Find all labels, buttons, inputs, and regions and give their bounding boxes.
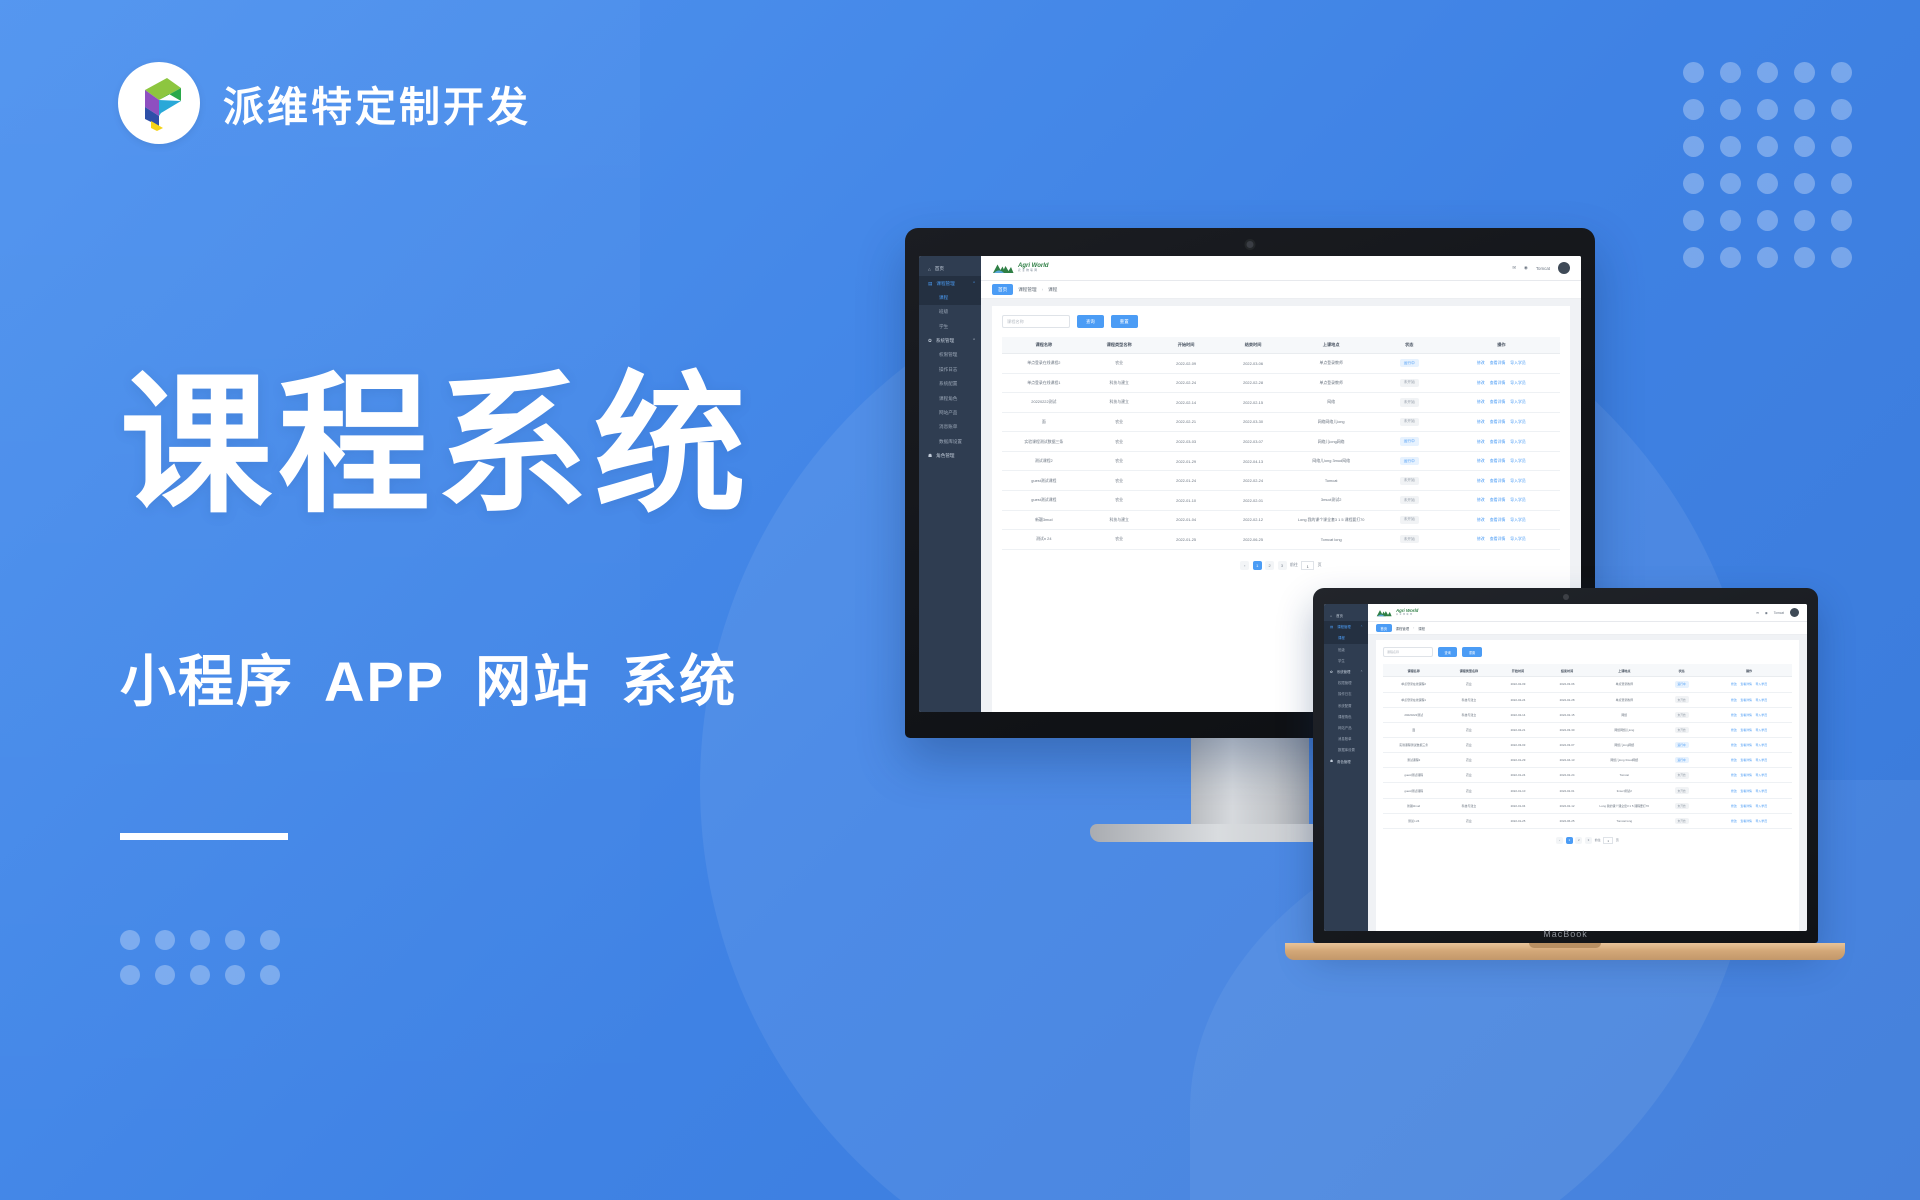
sidebar-item-4[interactable]: 学生 (919, 320, 981, 334)
sidebar-item-label: 首页 (935, 266, 944, 272)
action-link[interactable]: 导入学员 (1510, 517, 1526, 523)
agri-world-mark-icon (1376, 608, 1392, 618)
sidebar-item-label: 课程管理 (936, 281, 954, 287)
sidebar-item-label: 角色管理 (1337, 759, 1351, 764)
table-row: 测试课程2农业2022-01-292022-04-13网络儿long 3mud网… (1383, 753, 1792, 768)
app-sidebar: ⌂首页▤课程管理⌃课程班级学生✿系统管理⌃权限管理操作日志系统配置课程角色网站产… (1324, 604, 1368, 931)
action-link[interactable]: 导入学员 (1756, 804, 1768, 808)
cell-start-time: 2022-03-03 (1153, 432, 1220, 452)
status-badge: 运行中 (1675, 757, 1689, 763)
pivot-ribbon-logo-icon (118, 62, 200, 144)
sidebar-item-label: 消息账单 (939, 424, 957, 430)
cell-location: Tomcat (1592, 768, 1657, 783)
laptop-base (1285, 943, 1845, 960)
cell-start-time: 2022-01-29 (1153, 451, 1220, 471)
cell-start-time: 2022-02-21 (1493, 722, 1542, 737)
chevron-left-icon[interactable]: ‹ (1556, 837, 1563, 844)
sidebar-item-10[interactable]: 网站产品 (919, 406, 981, 420)
action-link[interactable]: 修改 (1477, 458, 1485, 464)
action-link[interactable]: 查看详情 (1740, 758, 1752, 762)
laptop-lid: ⌂首页▤课程管理⌃课程班级学生✿系统管理⌃权限管理操作日志系统配置课程角色网站产… (1313, 588, 1818, 943)
decorative-dot (1794, 210, 1815, 231)
cell-actions: 修改查看详情导入学员 (1706, 722, 1792, 737)
sidebar-item-label: 课程角色 (939, 396, 957, 402)
sidebar-item-11[interactable]: 消息账单 (919, 420, 981, 434)
cell-end-time: 2022-02-24 (1220, 471, 1287, 491)
cell-location: 3muct测试2 (1592, 783, 1657, 798)
decorative-dot (225, 965, 245, 985)
action-link[interactable]: 查看详情 (1740, 682, 1752, 686)
cell-end-time: 2022-06-25 (1543, 813, 1592, 828)
cell-start-time: 2022-01-04 (1493, 798, 1542, 813)
page-button-3[interactable]: 3 (1278, 561, 1287, 570)
action-link[interactable]: 导入学员 (1756, 682, 1768, 686)
page-button-1[interactable]: 1 (1253, 561, 1262, 570)
decorative-dot (260, 965, 280, 985)
laptop-mockup: ⌂首页▤课程管理⌃课程班级学生✿系统管理⌃权限管理操作日志系统配置课程角色网站产… (1285, 588, 1845, 960)
sidebar-item-9[interactable]: 课程角色 (919, 391, 981, 405)
status-badge: 未开始 (1675, 772, 1689, 778)
table-column-header: 课程名称 (1383, 664, 1444, 677)
reset-button[interactable]: 重置 (1462, 647, 1481, 657)
dot-grid-top-right (1683, 62, 1868, 284)
action-link[interactable]: 查看详情 (1490, 399, 1506, 405)
goto-label: 前往 (1595, 838, 1601, 842)
laptop-notch (1529, 943, 1601, 948)
bell-icon[interactable]: ◉ (1524, 265, 1528, 271)
cell-course-type: 科技与建立 (1086, 510, 1153, 530)
table-row: 单点登录在线课程1科技与建立2022-02-242022-02-28单点登录教师… (1002, 373, 1560, 393)
cell-status: 未开始 (1376, 471, 1443, 491)
sidebar-item-label: 课程 (1338, 635, 1345, 640)
action-link[interactable]: 查看详情 (1490, 497, 1506, 503)
sidebar-item-12[interactable]: 数据库设置 (1324, 744, 1368, 755)
brand-name: 派维特定制开发 (223, 73, 531, 133)
action-link[interactable]: 修改 (1731, 713, 1737, 717)
cell-location: 网络 (1592, 707, 1657, 722)
cell-course-type: 农业 (1086, 354, 1153, 374)
breadcrumb-parent[interactable]: 课程管理 (1018, 287, 1036, 293)
status-badge: 未开始 (1400, 418, 1419, 426)
cell-course-type: 科技与建立 (1086, 393, 1153, 413)
cell-actions: 修改查看详情导入学员 (1443, 412, 1560, 432)
sidebar-item-4[interactable]: 学生 (1324, 655, 1368, 666)
action-link[interactable]: 修改 (1731, 804, 1737, 808)
sidebar-item-9[interactable]: 课程角色 (1324, 711, 1368, 722)
decorative-dot (1831, 99, 1852, 120)
cell-actions: 修改查看详情导入学员 (1443, 471, 1560, 491)
cell-start-time: 2022-02-21 (1153, 412, 1220, 432)
cell-actions: 修改查看详情导入学员 (1706, 707, 1792, 722)
cell-start-time: 2022-02-09 (1153, 354, 1220, 374)
cell-course-name: 新疆3mud (1002, 510, 1086, 530)
chevron-left-icon[interactable]: ‹ (1240, 561, 1249, 570)
action-link[interactable]: 修改 (1731, 698, 1737, 702)
mail-icon[interactable]: ✉ (1756, 611, 1759, 615)
sidebar-item-label: 课程管理 (1337, 624, 1351, 629)
page-button-3[interactable]: 3 (1585, 837, 1592, 844)
cell-location: Tomcat (1287, 471, 1376, 491)
cell-course-name: 实验课程测试数据三条 (1002, 432, 1086, 452)
app-logo-text: Agri World 农业物联网 (1396, 609, 1418, 616)
cell-location: Tomcat long (1592, 813, 1657, 828)
sidebar-item-5[interactable]: ✿系统管理⌃ (919, 334, 981, 348)
breadcrumb-separator: › (1042, 287, 1044, 292)
table-column-header: 状态 (1657, 664, 1706, 677)
action-link[interactable]: 查看详情 (1740, 773, 1752, 777)
action-link[interactable]: 修改 (1477, 536, 1485, 542)
action-link[interactable]: 导入学员 (1510, 380, 1526, 386)
action-link[interactable]: 修改 (1731, 819, 1737, 823)
bell-icon[interactable]: ◉ (1765, 611, 1768, 615)
sidebar-item-label: 系统配置 (1338, 703, 1352, 708)
action-link[interactable]: 导入学员 (1510, 536, 1526, 542)
action-link[interactable]: 查看详情 (1490, 458, 1506, 464)
home-icon: ⌂ (1330, 614, 1332, 618)
cell-actions: 修改查看详情导入学员 (1706, 798, 1792, 813)
decorative-dot (190, 965, 210, 985)
action-link[interactable]: 查看详情 (1490, 478, 1506, 484)
cell-course-name: guest测试课程 (1383, 768, 1444, 783)
cell-end-time: 2022-03-30 (1220, 412, 1287, 432)
sidebar-item-8[interactable]: 系统配置 (919, 377, 981, 391)
decorative-dot (225, 930, 245, 950)
sidebar-item-8[interactable]: 系统配置 (1324, 700, 1368, 711)
action-link[interactable]: 导入学员 (1756, 713, 1768, 717)
cell-status: 运行中 (1376, 432, 1443, 452)
table-row: guest测试课程农业2022-01-102022-02-013muct测试2未… (1383, 783, 1792, 798)
sidebar-item-label: 操作日志 (1338, 691, 1352, 696)
page-unit-label: 页 (1616, 838, 1619, 842)
action-link[interactable]: 修改 (1477, 497, 1485, 503)
cell-start-time: 2022-01-29 (1493, 753, 1542, 768)
search-input[interactable]: 课程名称 (1383, 647, 1433, 657)
sidebar-item-1[interactable]: ▤课程管理⌃ (919, 276, 981, 290)
page-button-1[interactable]: 1 (1566, 837, 1573, 844)
cell-course-type: 农业 (1444, 753, 1493, 768)
action-link[interactable]: 查看详情 (1490, 419, 1506, 425)
cell-location: 网络网络儿long (1287, 412, 1376, 432)
cell-actions: 修改查看详情导入学员 (1706, 677, 1792, 692)
search-button[interactable]: 查询 (1077, 315, 1104, 328)
person-icon: ☗ (1330, 759, 1333, 763)
user-avatar-icon[interactable] (1558, 262, 1570, 274)
cell-actions: 修改查看详情导入学员 (1706, 783, 1792, 798)
reset-button[interactable]: 重置 (1111, 315, 1138, 328)
sidebar-item-13[interactable]: ☗角色管理 (1324, 755, 1368, 766)
action-link[interactable]: 修改 (1731, 758, 1737, 762)
cell-start-time: 2022-02-14 (1493, 707, 1542, 722)
decorative-dot (1757, 210, 1778, 231)
action-link[interactable]: 导入学员 (1756, 698, 1768, 702)
cell-status: 未开始 (1657, 798, 1706, 813)
action-link[interactable]: 查看详情 (1490, 360, 1506, 366)
status-badge: 未开始 (1675, 818, 1689, 824)
table-row: guest测试课程农业2022-01-242022-02-24Tomcat未开始… (1383, 768, 1792, 783)
action-link[interactable]: 修改 (1477, 478, 1485, 484)
table-row: 实验课程测试数据三条农业2022-03-032022-03-07网络儿long网… (1383, 738, 1792, 753)
decorative-dot (1683, 136, 1704, 157)
sidebar-item-12[interactable]: 数据库设置 (919, 435, 981, 449)
cell-status: 未开始 (1657, 813, 1706, 828)
search-button[interactable]: 查询 (1438, 647, 1457, 657)
cell-status: 运行中 (1376, 451, 1443, 471)
cell-start-time: 2022-01-10 (1493, 783, 1542, 798)
sidebar-item-3[interactable]: 班级 (1324, 644, 1368, 655)
sidebar-item-7[interactable]: 操作日志 (1324, 688, 1368, 699)
subtitle-list: 小程序APP网站系统 (120, 637, 767, 718)
table-row: 测试n 24农业2022-01-252022-06-25Tomcat long未… (1383, 813, 1792, 828)
cell-actions: 修改查看详情导入学员 (1443, 451, 1560, 471)
sidebar-item-label: 班级 (939, 309, 948, 315)
table-row: 20220222测试科技与建立2022-02-142022-02-15网络未开始… (1002, 393, 1560, 413)
table-column-header: 结束时间 (1220, 337, 1287, 354)
table-row: 面农业2022-02-212022-03-30网络网络儿long未开始修改查看详… (1002, 412, 1560, 432)
sidebar-item-label: 操作日志 (939, 367, 957, 373)
table-body: 单点登录在线课程2农业2022-02-092022-03-06单点登录教师运行中… (1383, 677, 1792, 829)
cell-course-type: 农业 (1086, 471, 1153, 491)
sidebar-item-7[interactable]: 操作日志 (919, 363, 981, 377)
cell-location: 网络网络儿long (1592, 722, 1657, 737)
action-link[interactable]: 查看详情 (1740, 819, 1752, 823)
table-head: 课程名称课程类型名称开始时间结束时间上课地点状态操作 (1002, 337, 1560, 354)
cell-course-name: 测试课程2 (1383, 753, 1444, 768)
action-link[interactable]: 导入学员 (1756, 773, 1768, 777)
action-link[interactable]: 导入学员 (1510, 458, 1526, 464)
cell-start-time: 2022-02-24 (1153, 373, 1220, 393)
action-link[interactable]: 查看详情 (1740, 789, 1752, 793)
gear-icon: ✿ (1330, 670, 1333, 674)
decorative-dot (1683, 62, 1704, 83)
cell-end-time: 2022-02-15 (1543, 707, 1592, 722)
status-badge: 未开始 (1400, 398, 1419, 406)
sidebar-item-5[interactable]: ✿系统管理⌃ (1324, 666, 1368, 677)
cell-end-time: 2022-06-25 (1220, 530, 1287, 550)
table-header-row: 课程名称课程类型名称开始时间结束时间上课地点状态操作 (1002, 337, 1560, 354)
cell-status: 未开始 (1376, 530, 1443, 550)
cell-location: 单点登录教师 (1287, 354, 1376, 374)
cell-course-type: 农业 (1444, 813, 1493, 828)
status-badge: 未开始 (1400, 496, 1419, 504)
decorative-dot (1683, 210, 1704, 231)
table-column-header: 开始时间 (1493, 664, 1542, 677)
decorative-dot (1757, 247, 1778, 268)
search-toolbar: 课程名称 查询 重置 (1383, 647, 1792, 657)
cell-course-name: 测试课程2 (1002, 451, 1086, 471)
breadcrumb: 首页 课程管理 › 课程 (981, 281, 1581, 299)
action-link[interactable]: 查看详情 (1490, 439, 1506, 445)
action-link[interactable]: 修改 (1731, 728, 1737, 732)
action-link[interactable]: 修改 (1477, 439, 1485, 445)
cell-actions: 修改查看详情导入学员 (1443, 354, 1560, 374)
action-link[interactable]: 导入学员 (1756, 819, 1768, 823)
cell-end-time: 2022-03-07 (1543, 738, 1592, 753)
action-link[interactable]: 导入学员 (1756, 758, 1768, 762)
action-link[interactable]: 查看详情 (1740, 804, 1752, 808)
cell-course-name: 测试n 24 (1002, 530, 1086, 550)
sidebar-item-2[interactable]: 课程 (919, 291, 981, 305)
cell-end-time: 2022-02-12 (1220, 510, 1287, 530)
table-column-header: 状态 (1376, 337, 1443, 354)
cell-end-time: 2022-02-28 (1220, 373, 1287, 393)
sidebar-item-label: 系统管理 (1337, 669, 1351, 674)
sidebar-item-label: 课程 (939, 295, 948, 301)
status-badge: 未开始 (1675, 787, 1689, 793)
action-link[interactable]: 导入学员 (1510, 439, 1526, 445)
cell-start-time: 2022-03-03 (1493, 738, 1542, 753)
app-logo-sub: 农业物联网 (1396, 614, 1418, 616)
decorative-dot (120, 965, 140, 985)
action-link[interactable]: 查看详情 (1740, 743, 1752, 747)
course-table: 课程名称课程类型名称开始时间结束时间上课地点状态操作 单点登录在线课程2农业20… (1383, 664, 1792, 829)
sidebar-item-10[interactable]: 网站产品 (1324, 722, 1368, 733)
goto-label: 前往 (1290, 562, 1298, 568)
action-link[interactable]: 修改 (1477, 399, 1485, 405)
goto-page-input[interactable]: 1 (1301, 561, 1314, 570)
action-link[interactable]: 导入学员 (1510, 399, 1526, 405)
action-link[interactable]: 修改 (1731, 789, 1737, 793)
page-button-2[interactable]: 2 (1575, 837, 1582, 844)
cell-course-name: 单点登录在线课程1 (1383, 692, 1444, 707)
sidebar-item-6[interactable]: 权限管理 (1324, 677, 1368, 688)
subtitle-word-3: 系统 (621, 650, 737, 713)
cell-end-time: 2022-02-12 (1543, 798, 1592, 813)
action-link[interactable]: 修改 (1477, 419, 1485, 425)
chevron-up-icon: ⌃ (1360, 625, 1363, 629)
page-button-2[interactable]: 2 (1265, 561, 1274, 570)
cell-location: Long 我的课个课全套3 1 5 课程要打70 (1287, 510, 1376, 530)
cell-actions: 修改查看详情导入学员 (1443, 373, 1560, 393)
home-icon: ⌂ (928, 267, 931, 272)
subtitle-word-1: APP (324, 650, 445, 713)
app-topbar: Agri World 农业物联网 ✉ ◉ Tomcat (981, 256, 1581, 281)
decorative-dot (1757, 136, 1778, 157)
sidebar-item-11[interactable]: 消息账单 (1324, 733, 1368, 744)
table-head: 课程名称课程类型名称开始时间结束时间上课地点状态操作 (1383, 664, 1792, 677)
action-link[interactable]: 修改 (1731, 682, 1737, 686)
action-link[interactable]: 导入学员 (1510, 497, 1526, 503)
table-column-header: 课程类型名称 (1444, 664, 1493, 677)
status-badge: 运行中 (1400, 457, 1419, 465)
cell-start-time: 2022-01-25 (1153, 530, 1220, 550)
decorative-dot (1683, 99, 1704, 120)
user-avatar-icon[interactable] (1790, 608, 1799, 617)
cell-actions: 修改查看详情导入学员 (1706, 768, 1792, 783)
cell-status: 未开始 (1376, 373, 1443, 393)
cell-course-type: 农业 (1086, 530, 1153, 550)
action-link[interactable]: 修改 (1731, 743, 1737, 747)
breadcrumb-home-tag[interactable]: 首页 (992, 284, 1013, 294)
cell-end-time: 2022-04-13 (1220, 451, 1287, 471)
cell-start-time: 2022-01-24 (1153, 471, 1220, 491)
sidebar-item-label: 权限管理 (939, 352, 957, 358)
action-link[interactable]: 查看详情 (1740, 728, 1752, 732)
action-link[interactable]: 查看详情 (1740, 698, 1752, 702)
decorative-dot (1831, 136, 1852, 157)
sidebar-item-0[interactable]: ⌂首页 (919, 262, 981, 276)
cell-actions: 修改查看详情导入学员 (1706, 753, 1792, 768)
table-header-row: 课程名称课程类型名称开始时间结束时间上课地点状态操作 (1383, 664, 1792, 677)
status-badge: 运行中 (1400, 359, 1419, 367)
cell-location: Tomcat long (1287, 530, 1376, 550)
action-link[interactable]: 导入学员 (1756, 789, 1768, 793)
search-toolbar: 课程名称 查询 重置 (1002, 315, 1560, 328)
decorative-dot (1831, 247, 1852, 268)
cell-location: 网络 (1287, 393, 1376, 413)
action-link[interactable]: 修改 (1477, 360, 1485, 366)
sidebar-item-1[interactable]: ▤课程管理⌃ (1324, 621, 1368, 632)
breadcrumb-home-tag[interactable]: 首页 (1376, 624, 1392, 632)
status-badge: 运行中 (1675, 681, 1689, 687)
cell-status: 未开始 (1376, 490, 1443, 510)
decorative-dot (1720, 173, 1741, 194)
cell-end-time: 2022-03-30 (1543, 722, 1592, 737)
decorative-dot (1720, 99, 1741, 120)
cell-course-type: 科技与建立 (1444, 707, 1493, 722)
action-link[interactable]: 修改 (1731, 773, 1737, 777)
cell-location: 单点登录教师 (1592, 677, 1657, 692)
cell-end-time: 2022-03-06 (1543, 677, 1592, 692)
sidebar-item-3[interactable]: 班级 (919, 305, 981, 319)
status-badge: 未开始 (1675, 727, 1689, 733)
cell-end-time: 2022-02-24 (1543, 768, 1592, 783)
search-input[interactable]: 课程名称 (1002, 315, 1070, 328)
action-link[interactable]: 查看详情 (1740, 713, 1752, 717)
action-link[interactable]: 修改 (1477, 380, 1485, 386)
status-badge: 未开始 (1400, 535, 1419, 543)
action-link[interactable]: 查看详情 (1490, 517, 1506, 523)
sidebar-item-0[interactable]: ⌂首页 (1324, 610, 1368, 621)
brand-lockup: 派维特定制开发 (118, 62, 531, 144)
cell-course-type: 农业 (1444, 738, 1493, 753)
action-link[interactable]: 查看详情 (1490, 380, 1506, 386)
action-link[interactable]: 导入学员 (1510, 360, 1526, 366)
cell-actions: 修改查看详情导入学员 (1443, 432, 1560, 452)
breadcrumb-parent[interactable]: 课程管理 (1396, 626, 1410, 631)
mail-icon[interactable]: ✉ (1512, 265, 1516, 271)
decorative-dot (1831, 62, 1852, 83)
goto-page-input[interactable]: 1 (1603, 837, 1613, 844)
subtitle-word-2: 网站 (475, 650, 591, 713)
table-row: 新疆3mud科技与建立2022-01-042022-02-12Long 我的课个… (1002, 510, 1560, 530)
username-label: Tomcat (1536, 266, 1550, 271)
action-link[interactable]: 导入学员 (1510, 478, 1526, 484)
cell-course-name: 面 (1383, 722, 1444, 737)
action-link[interactable]: 导入学员 (1756, 743, 1768, 747)
table-body: 单点登录在线课程2农业2022-02-092022-03-06单点登录教师运行中… (1002, 354, 1560, 550)
cell-course-type: 农业 (1444, 768, 1493, 783)
app-sidebar: ⌂首页▤课程管理⌃课程班级学生✿系统管理⌃权限管理操作日志系统配置课程角色网站产… (919, 256, 981, 712)
cell-end-time: 2022-03-06 (1220, 354, 1287, 374)
status-badge: 未开始 (1400, 379, 1419, 387)
app-logo-text: Agri World 农业物联网 (1018, 263, 1049, 272)
action-link[interactable]: 导入学员 (1756, 728, 1768, 732)
cell-status: 运行中 (1657, 677, 1706, 692)
action-link[interactable]: 修改 (1477, 517, 1485, 523)
gear-icon: ✿ (928, 338, 932, 344)
decorative-dot (1720, 62, 1741, 83)
sidebar-item-2[interactable]: 课程 (1324, 632, 1368, 643)
action-link[interactable]: 查看详情 (1490, 536, 1506, 542)
cell-end-time: 2022-03-07 (1220, 432, 1287, 452)
cell-status: 未开始 (1657, 783, 1706, 798)
action-link[interactable]: 导入学员 (1510, 419, 1526, 425)
sidebar-item-13[interactable]: ☗角色管理 (919, 449, 981, 463)
cell-course-name: 面 (1002, 412, 1086, 432)
content-panel: 课程名称 查询 重置 课程名称课程类型名称开始时间结束时间上课地点状态操作 单点… (1376, 640, 1799, 931)
sidebar-item-6[interactable]: 权限管理 (919, 348, 981, 362)
cell-location: 单点登录教师 (1592, 692, 1657, 707)
